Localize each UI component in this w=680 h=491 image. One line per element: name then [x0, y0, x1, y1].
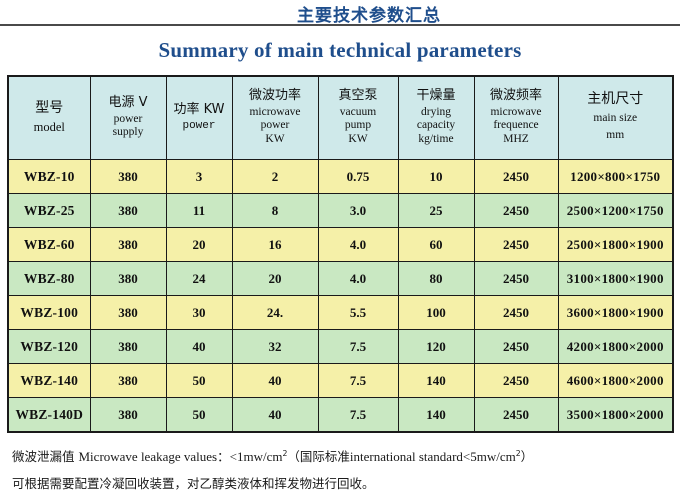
column-header-power-supply: 电源 V power supply — [90, 76, 166, 160]
column-header-vacuum-pump: 真空泵 vacuum pump KW — [318, 76, 398, 160]
cell-microwave-frequence: 2450 — [474, 160, 558, 194]
cell-main-size: 3600×1800×1900 — [558, 296, 673, 330]
cell-power: 3 — [166, 160, 232, 194]
column-header-power-supply-en-1: power — [91, 113, 166, 127]
cell-drying-capacity: 140 — [398, 398, 474, 433]
column-header-microwave-frequence-cn: 微波频率 — [475, 89, 558, 104]
cell-power: 30 — [166, 296, 232, 330]
cell-main-size: 3100×1800×1900 — [558, 262, 673, 296]
cell-microwave-frequence: 2450 — [474, 228, 558, 262]
column-header-drying-capacity: 干燥量 drying capacity kg/time — [398, 76, 474, 160]
cell-model: WBZ-100 — [8, 296, 90, 330]
cell-microwave-power: 8 — [232, 194, 318, 228]
table-row: WBZ-25 380 11 8 3.0 25 2450 2500×1200×17… — [8, 194, 673, 228]
cell-power: 24 — [166, 262, 232, 296]
cell-vacuum-pump: 7.5 — [318, 330, 398, 364]
footnotes: 微波泄漏值 Microwave leakage values：<1mw/cm2（… — [12, 449, 680, 491]
cell-vacuum-pump: 7.5 — [318, 398, 398, 433]
cell-power-supply: 380 — [90, 330, 166, 364]
table-row: WBZ-100 380 30 24. 5.5 100 2450 3600×180… — [8, 296, 673, 330]
column-header-microwave-frequence: 微波频率 microwave frequence MHZ — [474, 76, 558, 160]
table-row: WBZ-140 380 50 40 7.5 140 2450 4600×1800… — [8, 364, 673, 398]
cell-vacuum-pump: 7.5 — [318, 364, 398, 398]
table-row: WBZ-10 380 3 2 0.75 10 2450 1200×800×175… — [8, 160, 673, 194]
cell-drying-capacity: 60 — [398, 228, 474, 262]
cell-microwave-frequence: 2450 — [474, 398, 558, 433]
column-header-model-cn: 型号 — [9, 101, 90, 117]
cell-model: WBZ-80 — [8, 262, 90, 296]
spec-table-container: 型号 model 电源 V power supply 功率 KW power 微… — [7, 75, 672, 433]
footnote-leakage: 微波泄漏值 Microwave leakage values：<1mw/cm2（… — [12, 449, 680, 465]
cell-vacuum-pump: 3.0 — [318, 194, 398, 228]
column-header-microwave-frequence-en-2: frequence — [475, 119, 558, 133]
cell-power-supply: 380 — [90, 364, 166, 398]
cell-main-size: 1200×800×1750 — [558, 160, 673, 194]
cell-drying-capacity: 140 — [398, 364, 474, 398]
cell-model: WBZ-120 — [8, 330, 90, 364]
cell-microwave-frequence: 2450 — [474, 262, 558, 296]
cell-power: 50 — [166, 398, 232, 433]
cell-vacuum-pump: 0.75 — [318, 160, 398, 194]
cell-power-supply: 380 — [90, 228, 166, 262]
footnote-leakage-colon: ： — [217, 449, 230, 464]
table-row: WBZ-140D 380 50 40 7.5 140 2450 3500×180… — [8, 398, 673, 433]
table-header-row: 型号 model 电源 V power supply 功率 KW power 微… — [8, 76, 673, 160]
column-header-main-size-cn: 主机尺寸 — [559, 92, 673, 108]
cell-drying-capacity: 80 — [398, 262, 474, 296]
cell-power: 11 — [166, 194, 232, 228]
column-header-microwave-frequence-en-3: MHZ — [475, 133, 558, 147]
column-header-microwave-power-en-3: KW — [233, 133, 318, 147]
document-header: 主要技术参数汇总 — [0, 0, 680, 26]
footnote-standard-paren-open: （国际标准 — [287, 449, 350, 464]
column-header-main-size: 主机尺寸 main size mm — [558, 76, 673, 160]
cell-model: WBZ-60 — [8, 228, 90, 262]
footnote-condensation: 可根据需要配置冷凝回收装置，对乙醇类液体和挥发物进行回收。 — [12, 476, 680, 491]
cell-microwave-frequence: 2450 — [474, 330, 558, 364]
table-row: WBZ-60 380 20 16 4.0 60 2450 2500×1800×1… — [8, 228, 673, 262]
footnote-standard-en: international standard<5mw/cm — [350, 449, 516, 464]
column-header-power-en: power — [167, 120, 232, 133]
column-header-microwave-power: 微波功率 microwave power KW — [232, 76, 318, 160]
cell-microwave-power: 24. — [232, 296, 318, 330]
footnote-leakage-cn: 微波泄漏值 — [12, 449, 75, 464]
footnote-leakage-value: <1mw/cm — [230, 449, 283, 464]
cell-drying-capacity: 120 — [398, 330, 474, 364]
cell-main-size: 3500×1800×2000 — [558, 398, 673, 433]
cell-microwave-power: 20 — [232, 262, 318, 296]
cell-microwave-power: 2 — [232, 160, 318, 194]
cell-vacuum-pump: 4.0 — [318, 228, 398, 262]
cell-microwave-power: 32 — [232, 330, 318, 364]
column-header-main-size-en-1: main size — [559, 110, 673, 127]
cell-main-size: 2500×1800×1900 — [558, 228, 673, 262]
column-header-microwave-frequence-en-1: microwave — [475, 106, 558, 120]
column-header-vacuum-pump-en-2: pump — [319, 119, 398, 133]
column-header-vacuum-pump-cn: 真空泵 — [319, 89, 398, 104]
column-header-power-cn: 功率 KW — [167, 103, 232, 118]
column-header-power-supply-cn: 电源 V — [91, 96, 166, 111]
column-header-microwave-power-cn: 微波功率 — [233, 89, 318, 104]
cell-microwave-power: 16 — [232, 228, 318, 262]
column-header-drying-capacity-en-1: drying — [399, 106, 474, 120]
cell-model: WBZ-10 — [8, 160, 90, 194]
column-header-vacuum-pump-en-3: KW — [319, 133, 398, 147]
footnote-standard-paren-close: ） — [521, 449, 534, 464]
cell-main-size: 2500×1200×1750 — [558, 194, 673, 228]
cell-drying-capacity: 10 — [398, 160, 474, 194]
cell-power-supply: 380 — [90, 194, 166, 228]
cell-microwave-frequence: 2450 — [474, 296, 558, 330]
cell-drying-capacity: 25 — [398, 194, 474, 228]
cell-model: WBZ-140 — [8, 364, 90, 398]
table-body: WBZ-10 380 3 2 0.75 10 2450 1200×800×175… — [8, 160, 673, 433]
cell-power-supply: 380 — [90, 262, 166, 296]
cell-vacuum-pump: 4.0 — [318, 262, 398, 296]
cell-power: 50 — [166, 364, 232, 398]
column-header-main-size-en-2: mm — [559, 127, 673, 144]
cell-power-supply: 380 — [90, 296, 166, 330]
cell-main-size: 4200×1800×2000 — [558, 330, 673, 364]
column-header-model-en: model — [9, 120, 90, 135]
technical-parameters-table: 型号 model 电源 V power supply 功率 KW power 微… — [7, 75, 674, 433]
page-title-en: Summary of main technical parameters — [0, 38, 680, 63]
column-header-power-supply-en-2: supply — [91, 126, 166, 140]
cell-model: WBZ-25 — [8, 194, 90, 228]
cell-main-size: 4600×1800×2000 — [558, 364, 673, 398]
cell-vacuum-pump: 5.5 — [318, 296, 398, 330]
cell-microwave-frequence: 2450 — [474, 364, 558, 398]
cell-microwave-power: 40 — [232, 364, 318, 398]
cell-power-supply: 380 — [90, 160, 166, 194]
column-header-drying-capacity-cn: 干燥量 — [399, 89, 474, 104]
cell-model: WBZ-140D — [8, 398, 90, 433]
column-header-drying-capacity-en-2: capacity — [399, 119, 474, 133]
column-header-microwave-power-en-2: power — [233, 119, 318, 133]
header-divider — [0, 24, 680, 26]
cell-microwave-frequence: 2450 — [474, 194, 558, 228]
cell-drying-capacity: 100 — [398, 296, 474, 330]
table-row: WBZ-120 380 40 32 7.5 120 2450 4200×1800… — [8, 330, 673, 364]
cell-microwave-power: 40 — [232, 398, 318, 433]
column-header-vacuum-pump-en-1: vacuum — [319, 106, 398, 120]
table-row: WBZ-80 380 24 20 4.0 80 2450 3100×1800×1… — [8, 262, 673, 296]
column-header-power: 功率 KW power — [166, 76, 232, 160]
column-header-model: 型号 model — [8, 76, 90, 160]
footnote-leakage-en: Microwave leakage values — [79, 449, 218, 464]
cell-power: 40 — [166, 330, 232, 364]
column-header-drying-capacity-en-3: kg/time — [399, 133, 474, 147]
cell-power: 20 — [166, 228, 232, 262]
page-title-cn: 主要技术参数汇总 — [0, 1, 680, 26]
cell-power-supply: 380 — [90, 398, 166, 433]
column-header-microwave-power-en-1: microwave — [233, 106, 318, 120]
